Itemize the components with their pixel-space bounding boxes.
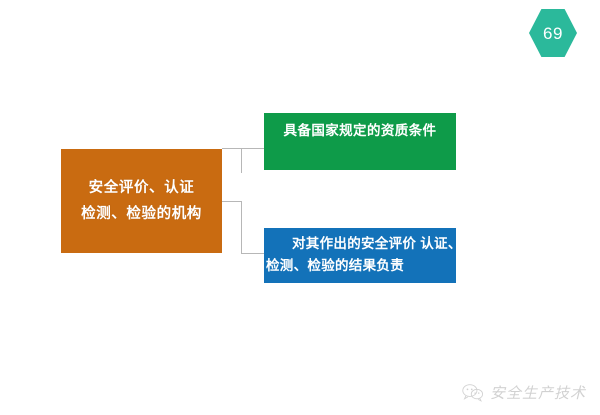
requirement-blue-line-1: 对其作出的安全评价 认证、	[264, 233, 456, 255]
connector-bottom-stub-horizontal	[222, 201, 242, 202]
watermark-text: 安全生产技术	[490, 382, 586, 403]
slide-canvas: 69 安全评价、认证 检测、检验的机构 具备国家规定的资质条件 对其作出的安全评…	[0, 0, 600, 415]
connector-bottom-vertical	[241, 201, 242, 254]
requirement-green-line-1: 具备国家规定的资质条件	[264, 121, 456, 141]
wechat-icon	[462, 383, 484, 402]
main-subject-line-1: 安全评价、认证	[89, 175, 195, 201]
requirement-blue-line-2: 检测、检验的结果负责	[264, 255, 456, 277]
main-subject-box: 安全评价、认证 检测、检验的机构	[61, 149, 222, 253]
requirement-box-blue: 对其作出的安全评价 认证、 检测、检验的结果负责	[264, 228, 456, 283]
connector-top-vertical	[241, 148, 242, 173]
connector-top-into-green	[241, 148, 265, 149]
page-number-text: 69	[528, 8, 578, 58]
requirement-box-green: 具备国家规定的资质条件	[264, 113, 456, 170]
main-subject-line-2: 检测、检验的机构	[81, 201, 202, 227]
connector-top-stub-horizontal	[222, 148, 242, 149]
page-number-badge: 69	[528, 8, 578, 58]
connector-bottom-into-blue	[241, 253, 265, 254]
watermark: 安全生产技术	[462, 382, 586, 403]
